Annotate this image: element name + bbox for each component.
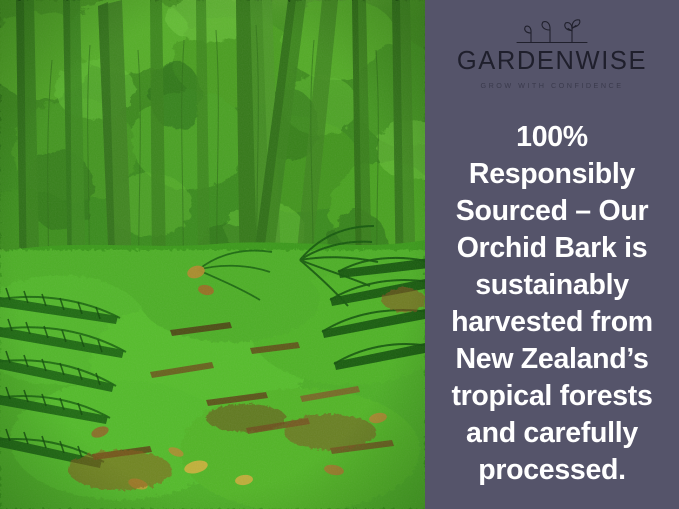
sprout-seedlings-icon (515, 18, 589, 46)
headline-line: processed. (434, 452, 670, 489)
product-banner: GARDENWISE GROW WITH CONFIDENCE 100% Res… (0, 0, 679, 509)
message-panel: GARDENWISE GROW WITH CONFIDENCE 100% Res… (425, 0, 679, 509)
headline-line: and carefully (434, 415, 670, 452)
headline-line: sustainably (434, 267, 670, 304)
brand-name: GARDENWISE (457, 49, 647, 75)
headline-line: tropical forests (434, 378, 670, 415)
headline-line: Sourced – Our (434, 193, 670, 230)
headline-line: 100% (434, 119, 670, 156)
forest-photo (0, 0, 425, 509)
forest-photo-illustration (0, 0, 425, 509)
headline-line: Orchid Bark is (434, 230, 670, 267)
headline-text: 100% Responsibly Sourced – Our Orchid Ba… (434, 119, 670, 489)
headline-line: harvested from (434, 304, 670, 341)
brand-logo: GARDENWISE GROW WITH CONFIDENCE (425, 18, 679, 89)
headline-line: New Zealand’s (434, 341, 670, 378)
headline-line: Responsibly (434, 156, 670, 193)
brand-tagline: GROW WITH CONFIDENCE (480, 82, 623, 89)
